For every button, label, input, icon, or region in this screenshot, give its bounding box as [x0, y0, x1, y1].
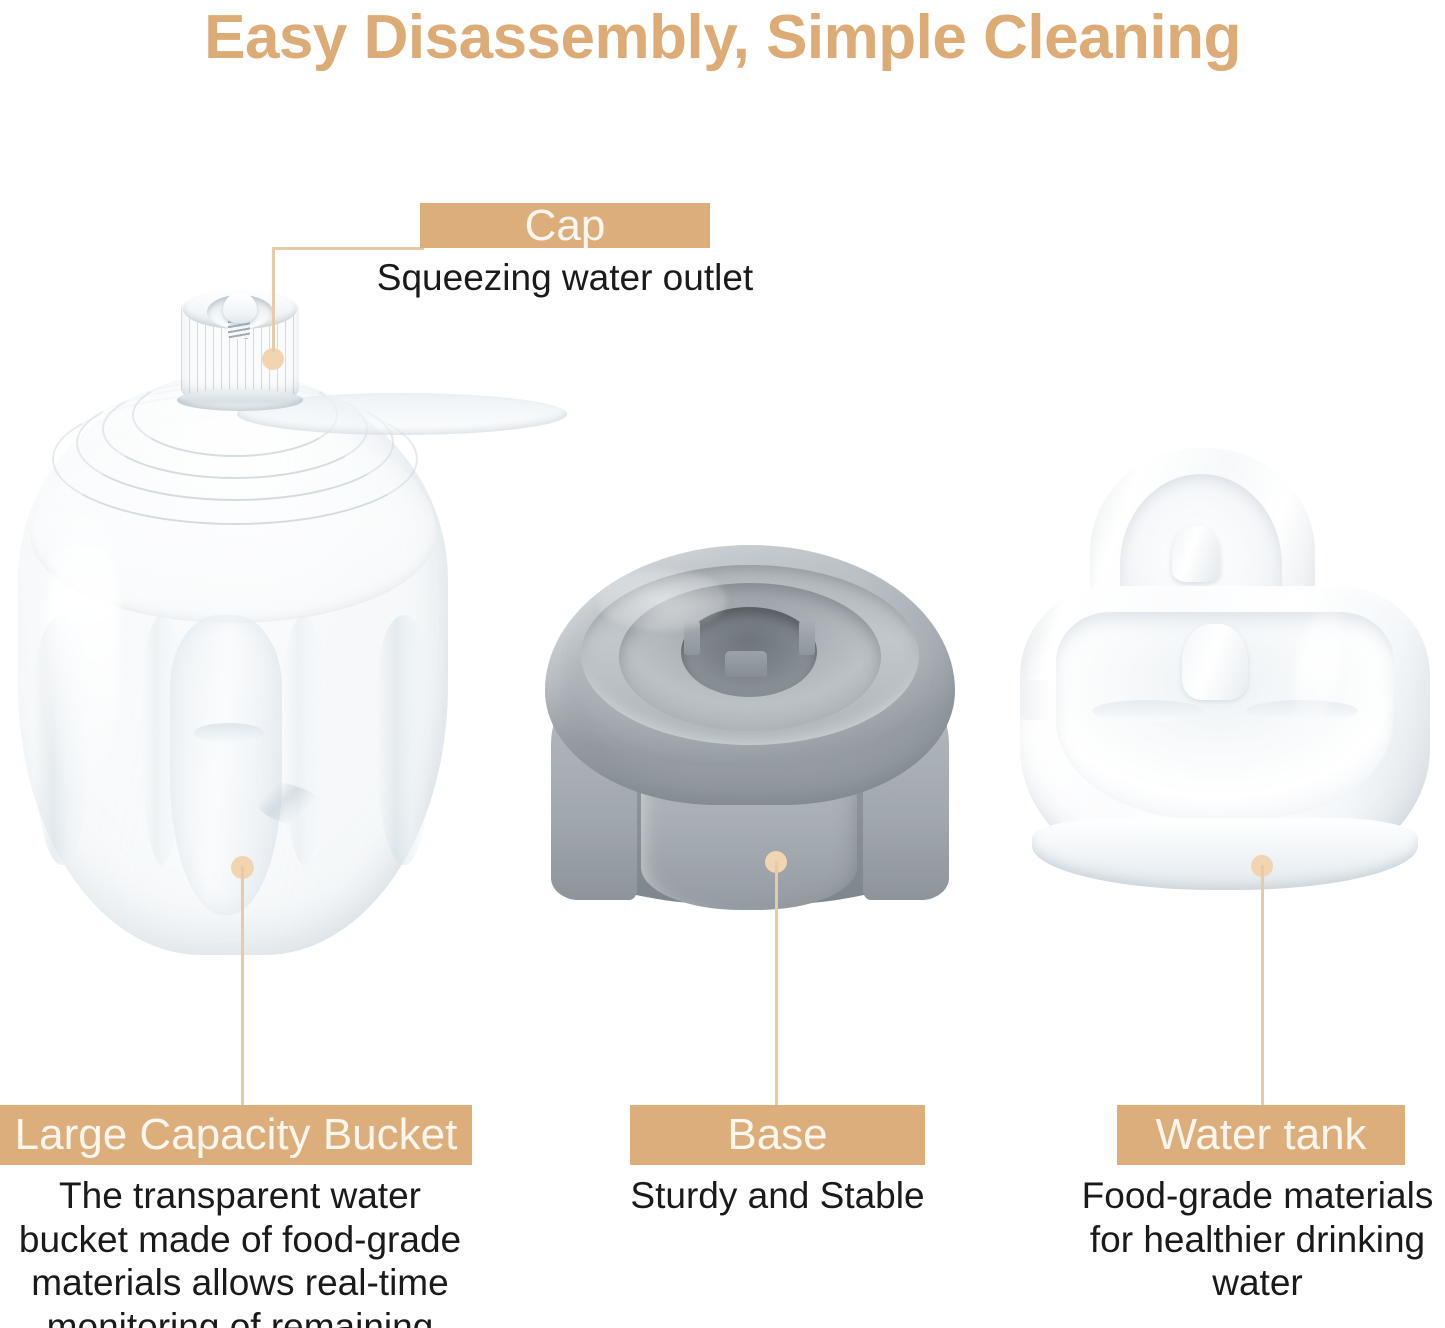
bucket-cap-assembly	[181, 285, 299, 407]
tank-center-spine	[1182, 624, 1248, 700]
label-bar-base: Base	[630, 1105, 925, 1165]
leader-line-horizontal-cap	[272, 247, 424, 250]
bucket-flute-right	[376, 615, 432, 865]
product-image-base	[545, 545, 955, 915]
label-bar-large-capacity-bucket: Large Capacity Bucket	[0, 1105, 472, 1165]
description-cap: Squeezing water outlet	[330, 256, 800, 300]
cap-base-ring	[177, 389, 303, 411]
page-title: Easy Disassembly, Simple Cleaning	[0, 2, 1445, 73]
base-highlight	[597, 569, 727, 631]
leader-line-vertical-cap	[272, 247, 275, 352]
description-large-capacity-bucket: The transparent water bucket made of foo…	[0, 1174, 480, 1328]
bucket-highlight	[46, 485, 120, 815]
product-image-water-tank	[1020, 448, 1430, 908]
bucket-inner-column-cap	[194, 723, 264, 743]
label-bar-water-tank: Water tank	[1117, 1105, 1405, 1165]
leader-line-vertical-base	[775, 861, 778, 1105]
leader-line-vertical-large-capacity-bucket	[241, 866, 244, 1105]
description-base: Sturdy and Stable	[600, 1174, 955, 1218]
bucket-flute-mid-right	[284, 615, 324, 865]
bucket-inner-column	[170, 615, 282, 915]
label-bar-cap: Cap	[420, 203, 710, 248]
leader-line-vertical-water-tank	[1261, 865, 1264, 1105]
description-water-tank: Food-grade materials for healthier drink…	[1070, 1174, 1445, 1305]
infographic-page: Easy Disassembly, Simple Cleaning	[0, 0, 1445, 1328]
product-image-water-bucket	[18, 285, 448, 955]
base-opening-notch	[725, 651, 767, 677]
tank-ridge-left	[1092, 700, 1204, 722]
base-opening-tab-right	[799, 621, 815, 655]
cap-valve-plug	[223, 293, 257, 323]
tank-side-wing	[1020, 680, 1048, 720]
tank-foot-rim	[1032, 818, 1418, 890]
tank-center-post	[1172, 526, 1220, 582]
